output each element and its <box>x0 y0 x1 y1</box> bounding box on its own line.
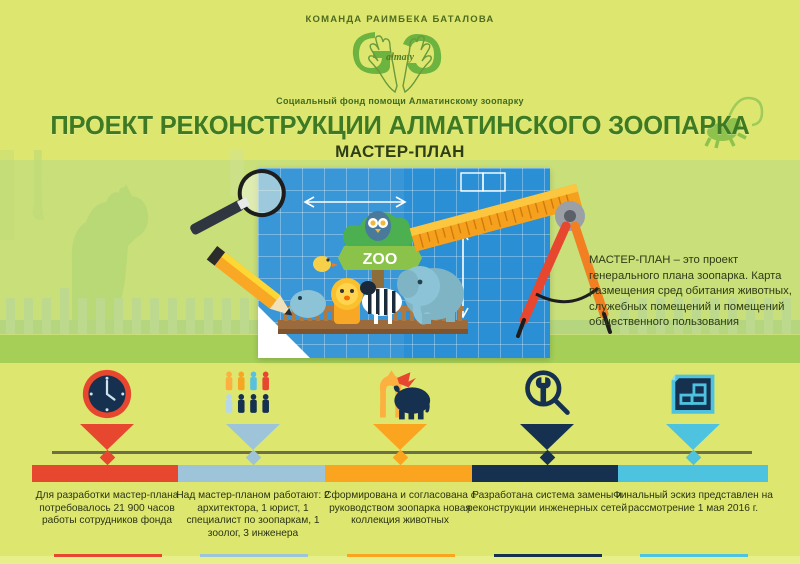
timeline-color-bar <box>472 465 622 482</box>
floorplan-icon <box>618 368 768 420</box>
infographic-poster: КОМАНДА РАИМБЕКА БАТАЛОВА almaty Социаль… <box>0 0 800 564</box>
timeline-item-5[interactable]: Финальный эскиз представлен на рассмотре… <box>618 368 768 450</box>
timeline-label-3: Сформирована и согласована с руководство… <box>319 490 481 528</box>
timeline-pointer <box>666 424 720 450</box>
go-almaty-logo: almaty <box>345 30 455 96</box>
timeline-label-5: Финальный эскиз представлен на рассмотре… <box>612 490 774 515</box>
pencil-icon <box>200 232 310 342</box>
timeline-color-bar <box>32 465 182 482</box>
timeline-label-1: Для разработки мастер-плана потребовалос… <box>26 490 188 528</box>
master-plan-description: МАСТЕР-ПЛАН – это проект генерального пл… <box>589 253 795 331</box>
timeline-underline <box>54 554 162 557</box>
timeline-label-4: Разработана система замены и реконструкц… <box>466 490 628 515</box>
timeline-item-4[interactable]: Разработана система замены и реконструкц… <box>472 368 622 450</box>
elephant-icon <box>394 385 430 419</box>
timeline-pointer <box>520 424 574 450</box>
timeline-color-bar <box>618 465 768 482</box>
timeline-pointer <box>226 424 280 450</box>
timeline-item-1[interactable]: Для разработки мастер-плана потребовалос… <box>32 368 182 450</box>
timeline-pointer <box>80 424 134 450</box>
timeline-color-bar <box>325 465 475 482</box>
team-line: КОМАНДА РАИМБЕКА БАТАЛОВА <box>0 14 800 25</box>
wrench-magnifier-icon <box>472 368 622 420</box>
background-band-foot <box>0 556 800 564</box>
timeline-underline <box>200 554 308 557</box>
animals-icon <box>325 368 475 420</box>
owl <box>365 211 391 241</box>
timeline-item-2[interactable]: Над мастер-планом работают: 2 архитектор… <box>178 368 328 450</box>
lion <box>331 278 363 324</box>
fund-line: Социальный фонд помощи Алматинскому зооп… <box>0 96 800 106</box>
page-subtitle: МАСТЕР-ПЛАН <box>0 142 800 162</box>
timeline-label-2: Над мастер-планом работают: 2 архитектор… <box>172 490 334 540</box>
clock-icon <box>32 368 182 420</box>
zoo-sign-label: ZOO <box>363 251 398 268</box>
timeline-color-bar <box>178 465 328 482</box>
bird <box>313 256 338 272</box>
elephant <box>397 266 464 324</box>
timeline-underline <box>640 554 748 557</box>
people-group-icon <box>178 368 328 420</box>
timeline-underline <box>494 554 602 557</box>
page-title: ПРОЕКТ РЕКОНСТРУКЦИИ АЛМАТИНСКОГО ЗООПАР… <box>0 112 800 141</box>
timeline-pointer <box>373 424 427 450</box>
magnifier-icon <box>170 168 300 240</box>
timeline-item-3[interactable]: Сформирована и согласована с руководство… <box>325 368 475 450</box>
timeline-underline <box>347 554 455 557</box>
